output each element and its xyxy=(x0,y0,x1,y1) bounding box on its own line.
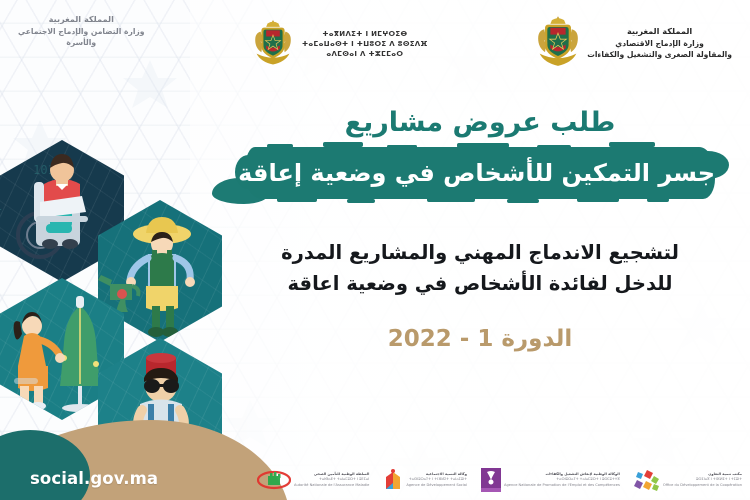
body-line-1: لتشجيع الاندماج المهني والمشاريع المدرة xyxy=(230,237,730,269)
svg-text:0010: 0010 xyxy=(0,155,6,169)
partner-odco-fr: Office du Développement de la Coopératio… xyxy=(663,483,742,488)
partner-anam-fr: Autorité Nationale de l'Assurance Maladi… xyxy=(294,483,369,488)
edition-label: الدورة 1 - 2022 xyxy=(230,326,730,352)
brush-banner-title: جسر التمكين للأشخاص في وضعية إعاقة xyxy=(245,147,715,199)
ads-logo-icon xyxy=(383,469,403,491)
partner-ads-text: وكالة التنمية الاجتماعية ⵜⴰⵙⵏⵓⵔⴰⵢⵜ ⵏ ⵜⵏⴼ… xyxy=(406,472,467,488)
partner-logo-odco: مكتب تنمية التعاون ⵓⵙⵉⵏⴰⴳ ⵏ ⵜⵏⴼⵍⵉⵜ ⵏ ⵜⵎⵓ… xyxy=(634,469,742,491)
poster-canvas: المملكة المغربية وزارة الإدماج الاقتصادي… xyxy=(0,0,750,500)
body-line-2: للدخل لفائدة الأشخاص في وضعية اعاقة xyxy=(230,268,730,300)
partner-ads-fr: Agence de Développement Social xyxy=(406,483,467,488)
website-url[interactable]: social.gov.ma xyxy=(30,469,158,488)
ministry-logo-economic-inclusion: المملكة المغربية وزارة الإدماج الاقتصادي… xyxy=(535,14,732,72)
page-kicker: طلب عروض مشاريع xyxy=(230,108,730,138)
partner-logos: مكتب تنمية التعاون ⵓⵙⵉⵏⴰⴳ ⵏ ⵜⵏⴼⵍⵉⵜ ⵏ ⵜⵎⵓ… xyxy=(257,468,742,492)
body-paragraph: لتشجيع الاندماج المهني والمشاريع المدرة … xyxy=(230,237,730,300)
ministry-center-line3: ⴰⴷⵎⵙⴰⵏ ⴷ ⵜⵣⵎⵎⴰⵔ xyxy=(302,49,428,59)
odco-pinwheel-icon xyxy=(634,469,660,491)
partner-anapec-fr: Agence Nationale de Promotion de l'Emplo… xyxy=(504,483,620,488)
svg-text:0101: 0101 xyxy=(0,199,2,213)
ministry-logo-center-amazigh: ⵜⴰⴳⵍⴷⵉⵜ ⵏ ⵍⵎⵖⵔⵉⴱ ⵜⴰⵎⴰⵡⴰⵙⵜ ⵏ ⵜⵡⵓⵔⵉ ⴷ ⵓⵙⵉⴷ… xyxy=(252,18,428,70)
ministry-logo-solidarity: المملكة المغربية وزارة التضامن والإدماج … xyxy=(18,14,145,48)
morocco-coat-of-arms-icon-center xyxy=(252,18,294,70)
partner-ads-amazigh: ⵜⴰⵙⵏⵓⵔⴰⵢⵜ ⵏ ⵜⵏⴼⵍⵉⵜ ⵜⴰⵏⴰⵎⵓⵏⵜ xyxy=(406,477,467,482)
ministry-right-line1: المملكة المغربية xyxy=(18,14,145,26)
ministry-center-text: ⵜⴰⴳⵍⴷⵉⵜ ⵏ ⵍⵎⵖⵔⵉⴱ ⵜⴰⵎⴰⵡⴰⵙⵜ ⵏ ⵜⵡⵓⵔⵉ ⴷ ⵓⵙⵉⴷ… xyxy=(302,29,428,59)
partner-anapec-text: الوكالة الوطنية لإنعاش التشغيل والكفاءات… xyxy=(504,472,620,488)
partner-odco-text: مكتب تنمية التعاون ⵓⵙⵉⵏⴰⴳ ⵏ ⵜⵏⴼⵍⵉⵜ ⵏ ⵜⵎⵓ… xyxy=(663,472,742,488)
brush-banner: جسر التمكين للأشخاص في وضعية إعاقة xyxy=(245,147,715,199)
morocco-coat-of-arms-icon xyxy=(535,14,581,72)
partner-logo-anapec: الوكالة الوطنية لإنعاش التشغيل والكفاءات… xyxy=(481,468,620,492)
partner-logo-anam: السلطة الوطنية للتأمين الصحي ⵜⴰⵏⴱⴰⴹⵜ ⵜⴰⵏ… xyxy=(257,470,369,490)
header: المملكة المغربية وزارة الإدماج الاقتصادي… xyxy=(0,0,750,104)
ministry-left-text: المملكة المغربية وزارة الإدماج الاقتصادي… xyxy=(587,26,732,60)
partner-logo-ads: وكالة التنمية الاجتماعية ⵜⴰⵙⵏⵓⵔⴰⵢⵜ ⵏ ⵜⵏⴼ… xyxy=(383,469,467,491)
ministry-right-line3: والأسرة xyxy=(18,37,145,48)
ministry-center-line1: ⵜⴰⴳⵍⴷⵉⵜ ⵏ ⵍⵎⵖⵔⵉⴱ xyxy=(302,29,428,39)
ministry-center-line2: ⵜⴰⵎⴰⵡⴰⵙⵜ ⵏ ⵜⵡⵓⵔⵉ ⴷ ⵓⵙⵉⴷⴼ xyxy=(302,39,428,49)
anapec-logo-icon xyxy=(481,468,501,492)
anam-logo-icon xyxy=(257,470,291,490)
ministry-left-line2: وزارة الإدماج الاقتصادي xyxy=(587,38,732,49)
ministry-right-text: المملكة المغربية وزارة التضامن والإدماج … xyxy=(18,14,145,48)
ministry-left-line3: والمقاولة الصغرى والتشغيل والكفاءات xyxy=(587,49,732,60)
ministry-left-line1: المملكة المغربية xyxy=(587,26,732,38)
ministry-right-line2: وزارة التضامن والإدماج الاجتماعي xyxy=(18,26,145,37)
main-content: طلب عروض مشاريع xyxy=(230,108,730,352)
partner-anam-text: السلطة الوطنية للتأمين الصحي ⵜⴰⵏⴱⴰⴹⵜ ⵜⴰⵏ… xyxy=(294,472,369,488)
